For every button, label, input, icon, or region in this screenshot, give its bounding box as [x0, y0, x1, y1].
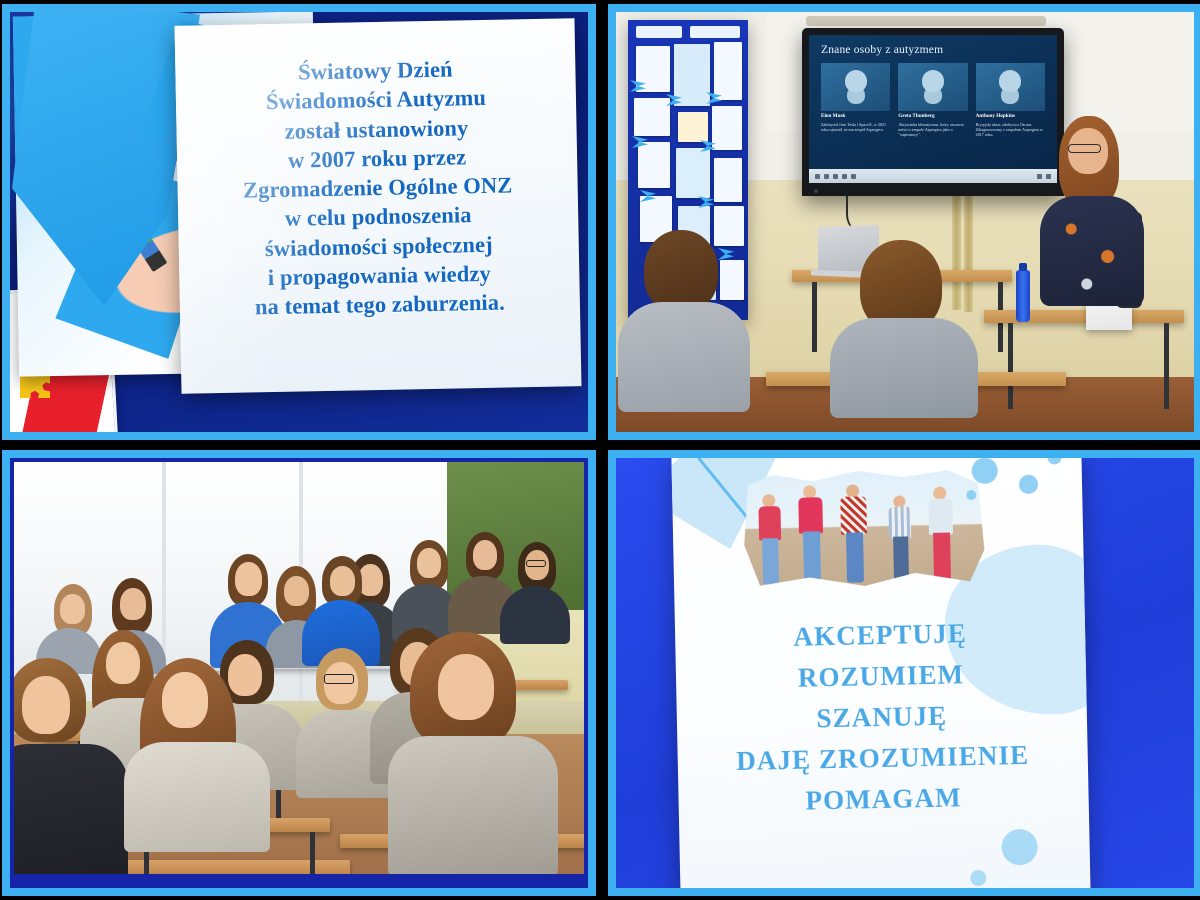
student-glasses — [324, 674, 354, 684]
student-body — [830, 318, 978, 418]
person-card: Greta Thunberg Aktywistka klimatyczna, k… — [898, 63, 967, 137]
board-card — [714, 206, 744, 246]
youth-group-photo — [738, 466, 990, 591]
person-top — [888, 506, 911, 538]
slide-title: Znane osoby z autyzmem — [821, 44, 943, 56]
person-name: Greta Thunberg — [898, 114, 967, 120]
student-head — [60, 594, 85, 624]
board-card — [712, 106, 742, 150]
desk-leg — [1164, 323, 1169, 409]
eraser-icon[interactable] — [824, 174, 829, 179]
person-5 — [924, 486, 958, 583]
student-head — [228, 654, 262, 696]
decor-dot — [1001, 829, 1038, 866]
student-head — [106, 642, 140, 684]
panel-poster-text-inner: Światowy Dzień Świadomości Autyzmu zosta… — [10, 12, 588, 432]
board-card — [720, 260, 744, 300]
panel-poster-text: Światowy Dzień Świadomości Autyzmu zosta… — [2, 4, 596, 440]
person-description: Aktywistka klimatyczna, który otwarcie m… — [898, 122, 967, 137]
poster-line-9: na temat tego zaburzenia. — [198, 286, 562, 322]
slogan-1: AKCEPTUJĘ — [675, 616, 1086, 656]
info-poster-sheet: Światowy Dzień Świadomości Autyzmu zosta… — [175, 18, 582, 394]
board-card — [638, 142, 670, 188]
student-glasses — [526, 560, 546, 567]
person-4 — [884, 495, 916, 584]
decor-dot — [971, 458, 998, 484]
board-card — [634, 98, 670, 136]
pen-icon[interactable] — [815, 174, 820, 179]
desk-leg — [812, 282, 817, 352]
person-legs — [803, 531, 821, 583]
photo-collage: Światowy Dzień Świadomości Autyzmu zosta… — [0, 0, 1200, 900]
display-bezel — [802, 185, 1064, 196]
person-top — [928, 498, 953, 534]
slogan-3: SZANUJĘ — [677, 698, 1088, 738]
desk-leg — [310, 832, 315, 874]
decor-dot — [1047, 458, 1061, 464]
board-card — [676, 148, 710, 198]
person-top — [798, 497, 823, 533]
board-card — [714, 42, 742, 100]
slogan-4: DAJĘ ZROZUMIENIE — [677, 739, 1088, 779]
panel-presentation-inner: Znane osoby z autyzmem Elon Musk Założyc… — [616, 12, 1194, 432]
person-3 — [836, 484, 872, 585]
student-head — [438, 654, 494, 720]
undo-icon[interactable] — [842, 174, 847, 179]
person-name: Anthony Hopkins — [976, 114, 1045, 120]
slide-person-cards: Elon Musk Założyciel firm Tesla i SpaceX… — [821, 63, 1045, 137]
panel-slogans: AKCEPTUJĘ ROZUMIEM SZANUJĘ DAJĘ ZROZUMIE… — [608, 450, 1200, 896]
decor-dot — [1019, 475, 1038, 494]
student-body — [124, 742, 270, 852]
student-body — [388, 736, 558, 874]
slogan-5: POMAGAM — [678, 780, 1089, 820]
student-head — [235, 562, 262, 596]
student-head — [417, 548, 441, 578]
panel-slogans-inner: AKCEPTUJĘ ROZUMIEM SZANUJĘ DAJĘ ZROZUMIE… — [616, 458, 1194, 888]
blue-ribbon-icon — [698, 196, 714, 208]
desk-leg — [1008, 323, 1013, 409]
water-bottle — [1016, 270, 1030, 322]
student-head — [120, 588, 146, 620]
panel-students-inner — [10, 458, 588, 888]
presenter-glasses — [1068, 144, 1101, 153]
display-toolbar[interactable] — [809, 169, 1057, 183]
person-legs — [933, 533, 951, 581]
blue-ribbon-icon — [718, 248, 734, 260]
board-card — [674, 44, 710, 106]
presenter-body — [1040, 196, 1144, 306]
person-card: Elon Musk Założyciel firm Tesla i SpaceX… — [821, 63, 890, 137]
board-card — [636, 46, 670, 92]
student-head — [22, 676, 70, 734]
classroom-photo — [14, 462, 584, 874]
person-photo — [976, 63, 1045, 111]
student-head — [473, 540, 497, 570]
redo-icon[interactable] — [851, 174, 856, 179]
student-head — [162, 672, 208, 728]
student-body — [14, 744, 128, 874]
person-legs — [893, 536, 909, 580]
person-legs — [762, 538, 779, 584]
person-photo — [821, 63, 890, 111]
person-2 — [794, 485, 828, 586]
person-legs — [846, 532, 864, 582]
panel-students — [2, 450, 596, 896]
person-1 — [754, 494, 786, 587]
side-desk — [984, 310, 1184, 323]
board-header-right — [690, 26, 740, 38]
student-head — [644, 230, 718, 312]
display-screen[interactable]: Znane osoby z autyzmem Elon Musk Założyc… — [809, 35, 1057, 183]
interactive-display[interactable]: Znane osoby z autyzmem Elon Musk Założyc… — [802, 28, 1064, 196]
slogan-2: ROZUMIEM — [676, 657, 1087, 697]
board-card — [678, 112, 708, 142]
person-photo — [898, 63, 967, 111]
person-description: Brytyjski aktor, zdobywca Oscara. Zdiagn… — [976, 122, 1045, 137]
board-header-left — [636, 26, 682, 38]
person-name: Elon Musk — [821, 114, 890, 120]
person-top — [840, 496, 867, 535]
panel-presentation: Znane osoby z autyzmem Elon Musk Założyc… — [608, 4, 1200, 440]
power-led-icon — [814, 189, 818, 193]
student-head — [330, 566, 355, 596]
person-top — [758, 506, 781, 540]
person-card: Anthony Hopkins Brytyjski aktor, zdobywc… — [976, 63, 1045, 137]
person-description: Założyciel firm Tesla i SpaceX, w 2021 r… — [821, 122, 890, 132]
board-card — [714, 158, 742, 202]
student-head — [284, 576, 309, 606]
home-icon[interactable] — [1046, 174, 1051, 179]
settings-icon[interactable] — [1037, 174, 1042, 179]
projector-screen-roller — [806, 16, 1046, 26]
slogan-poster: AKCEPTUJĘ ROZUMIEM SZANUJĘ DAJĘ ZROZUMIE… — [671, 458, 1090, 888]
poster-text-block: Światowy Dzień Świadomości Autyzmu zosta… — [175, 52, 580, 323]
shapes-icon[interactable] — [833, 174, 838, 179]
student-body — [618, 302, 750, 412]
decor-dot — [970, 870, 986, 886]
slogan-list: AKCEPTUJĘ ROZUMIEM SZANUJĘ DAJĘ ZROZUMIE… — [675, 616, 1089, 820]
